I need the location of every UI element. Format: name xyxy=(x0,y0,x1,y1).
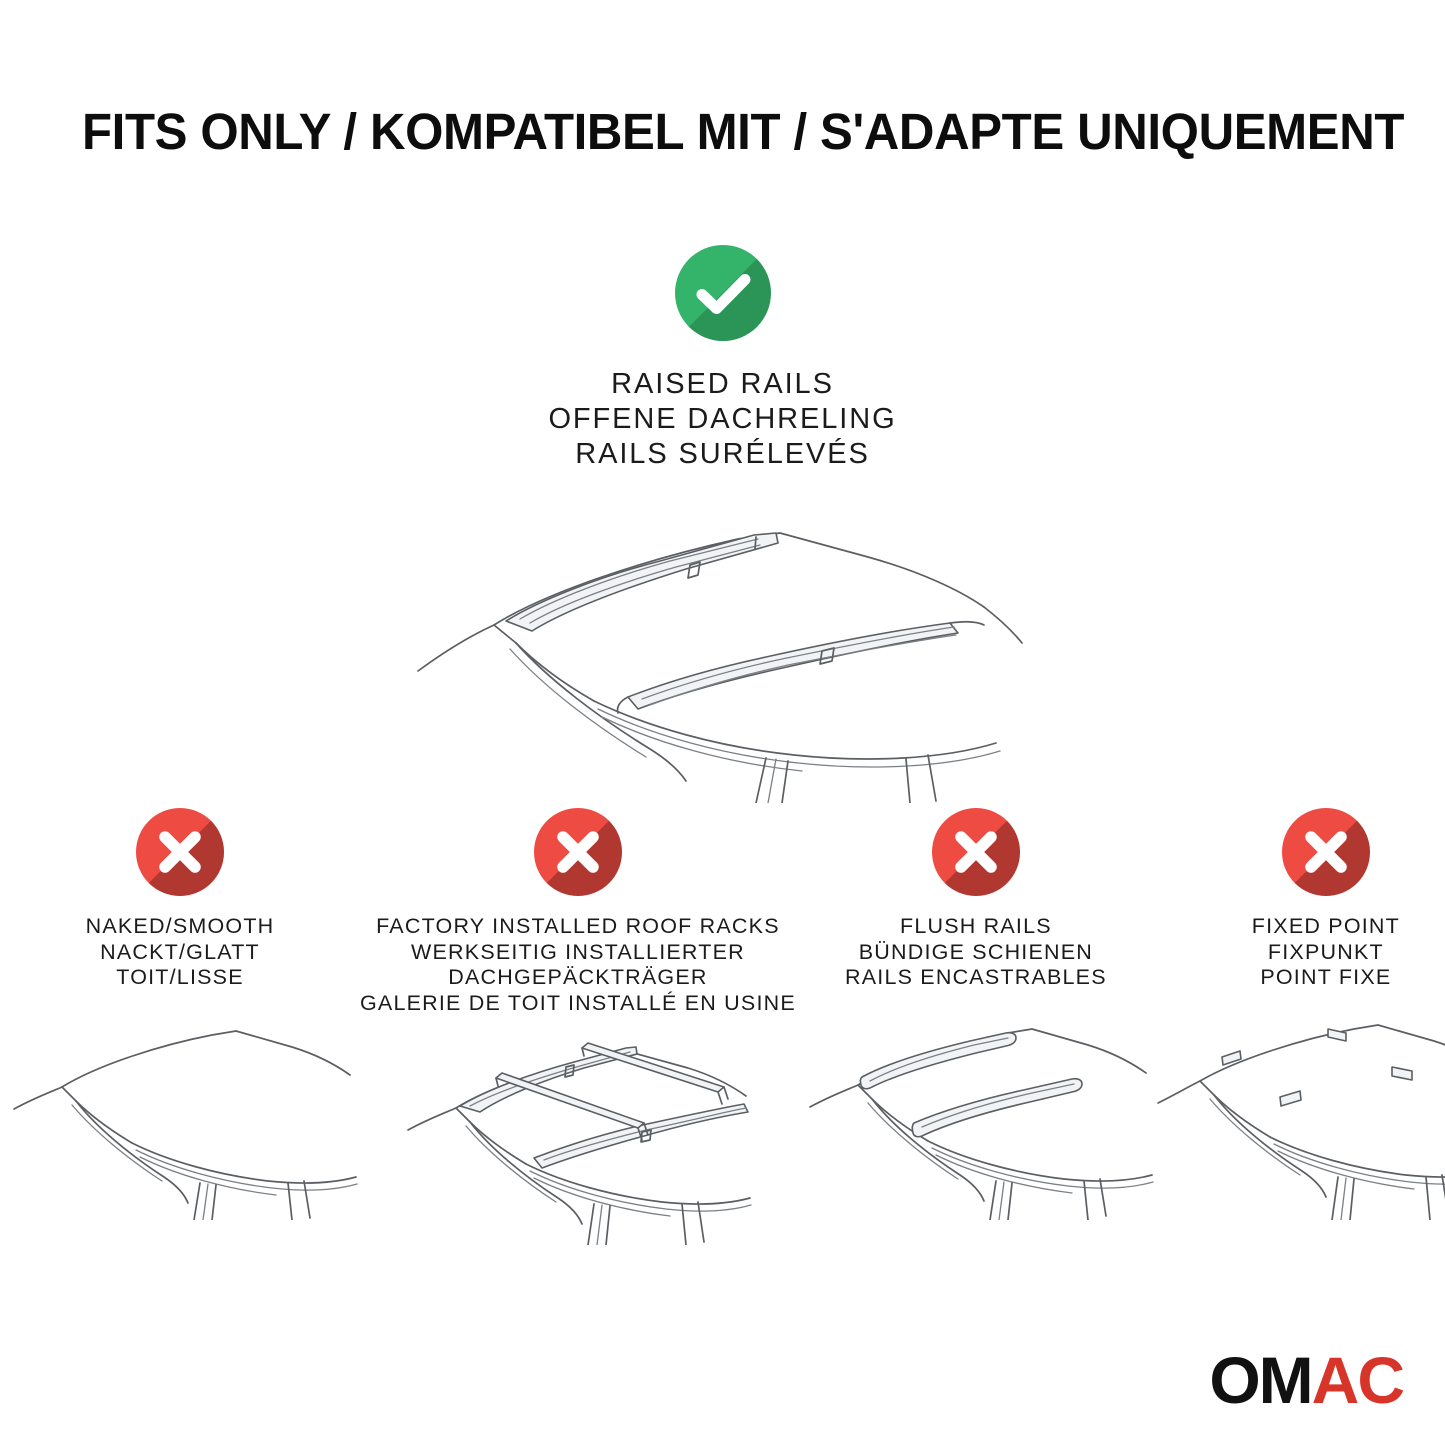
x-circle-icon xyxy=(534,808,622,896)
x-circle-icon xyxy=(932,808,1020,896)
incompatible-column-fixed-point: FIXED POINT FIXPUNKT POINT FIXE xyxy=(1156,808,1445,1245)
caption-line-de: BÜNDIGE SCHIENEN xyxy=(845,940,1107,966)
compatible-caption-line-fr: RAILS SURÉLEVÉS xyxy=(0,437,1445,472)
logo-text-dark: OM xyxy=(1209,1347,1311,1413)
compatible-badge-wrap xyxy=(0,245,1445,341)
caption-naked-smooth: NAKED/SMOOTH NACKT/GLATT TOIT/LISSE xyxy=(86,914,275,991)
compatible-section: RAISED RAILS OFFENE DACHRELING RAILS SUR… xyxy=(0,245,1445,472)
caption-fixed-point: FIXED POINT FIXPUNKT POINT FIXE xyxy=(1252,914,1400,991)
caption-line-en: NAKED/SMOOTH xyxy=(86,914,275,940)
infographic-page: FITS ONLY / KOMPATIBEL MIT / S'ADAPTE UN… xyxy=(0,0,1445,1445)
check-circle-icon xyxy=(675,245,771,341)
caption-factory-racks: FACTORY INSTALLED ROOF RACKS WERKSEITIG … xyxy=(360,914,796,1016)
car-roof-naked-smooth-illustration xyxy=(0,1005,360,1220)
caption-line-en: FACTORY INSTALLED ROOF RACKS xyxy=(360,914,796,940)
omac-logo: OM AC xyxy=(1209,1347,1403,1413)
incompatible-column-naked-smooth: NAKED/SMOOTH NACKT/GLATT TOIT/LISSE xyxy=(0,808,360,1245)
x-circle-icon xyxy=(136,808,224,896)
compatible-caption-line-de: OFFENE DACHRELING xyxy=(0,402,1445,437)
compatible-caption-line-en: RAISED RAILS xyxy=(0,367,1445,402)
logo-text-accent: AC xyxy=(1312,1347,1403,1413)
caption-line-de: NACKT/GLATT xyxy=(86,940,275,966)
x-circle-icon xyxy=(1282,808,1370,896)
incompatible-column-factory-racks: FACTORY INSTALLED ROOF RACKS WERKSEITIG … xyxy=(360,808,796,1245)
caption-line-fr: RAILS ENCASTRABLES xyxy=(845,965,1107,991)
caption-line-en: FLUSH RAILS xyxy=(845,914,1107,940)
incompatible-column-flush-rails: FLUSH RAILS BÜNDIGE SCHIENEN RAILS ENCAS… xyxy=(796,808,1156,1245)
page-title: FITS ONLY / KOMPATIBEL MIT / S'ADAPTE UN… xyxy=(82,104,1327,160)
car-roof-factory-roof-racks-illustration xyxy=(398,1030,758,1245)
caption-flush-rails: FLUSH RAILS BÜNDIGE SCHIENEN RAILS ENCAS… xyxy=(845,914,1107,991)
caption-line-fr: POINT FIXE xyxy=(1252,965,1400,991)
car-roof-raised-rails-illustration xyxy=(398,503,1048,803)
caption-line-de-2: DACHGEPÄCKTRÄGER xyxy=(360,965,796,991)
car-roof-flush-rails-illustration xyxy=(796,1005,1156,1220)
caption-line-fr: TOIT/LISSE xyxy=(86,965,275,991)
car-roof-fixed-point-illustration xyxy=(1156,1005,1445,1220)
caption-line-fr: GALERIE DE TOIT INSTALLÉ EN USINE xyxy=(360,991,796,1017)
caption-line-en: FIXED POINT xyxy=(1252,914,1400,940)
compatible-caption: RAISED RAILS OFFENE DACHRELING RAILS SUR… xyxy=(0,367,1445,472)
incompatible-grid: NAKED/SMOOTH NACKT/GLATT TOIT/LISSE xyxy=(0,808,1445,1245)
caption-line-de: FIXPUNKT xyxy=(1252,940,1400,966)
caption-line-de-1: WERKSEITIG INSTALLIERTER xyxy=(360,940,796,966)
